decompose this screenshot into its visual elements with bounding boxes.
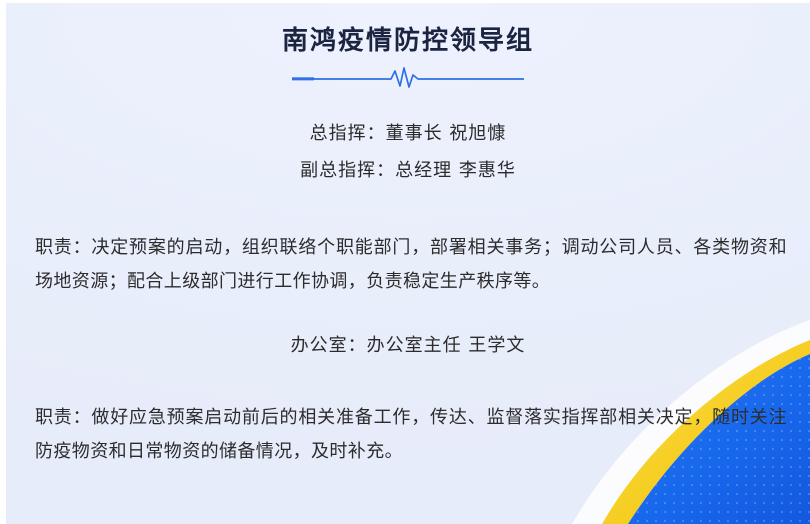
chief-commander-line: 总指挥：董事长 祝旭慷: [6, 125, 810, 143]
header: 南鸿疫情防控领导组: [6, 25, 810, 90]
ecg-pulse-icon: [292, 68, 524, 87]
leadership-duty-paragraph: 职责：决定预案的启动，组织联络个职能部门，部署相关事务；调动公司人员、各类物资和…: [35, 231, 787, 299]
epidemic-control-group-card: 南鸿疫情防控领导组 总指挥：董事长 祝旭慷 副总指挥：总经理 李惠华 职责：决定…: [0, 0, 810, 524]
leaders-block: 总指挥：董事长 祝旭慷 副总指挥：总经理 李惠华: [6, 125, 810, 180]
ecg-pulse-divider: [292, 66, 524, 90]
office-director-line: 办公室：办公室主任 王学文: [6, 337, 810, 355]
divider-cap: [292, 77, 314, 80]
deputy-commander-line: 副总指挥：总经理 李惠华: [6, 162, 810, 180]
page-title: 南鸿疫情防控领导组: [6, 25, 810, 58]
office-duty-paragraph: 职责：做好应急预案启动前后的相关准备工作，传达、监督落实指挥部相关决定，随时关注…: [35, 401, 787, 469]
office-block: 办公室：办公室主任 王学文: [6, 337, 810, 355]
